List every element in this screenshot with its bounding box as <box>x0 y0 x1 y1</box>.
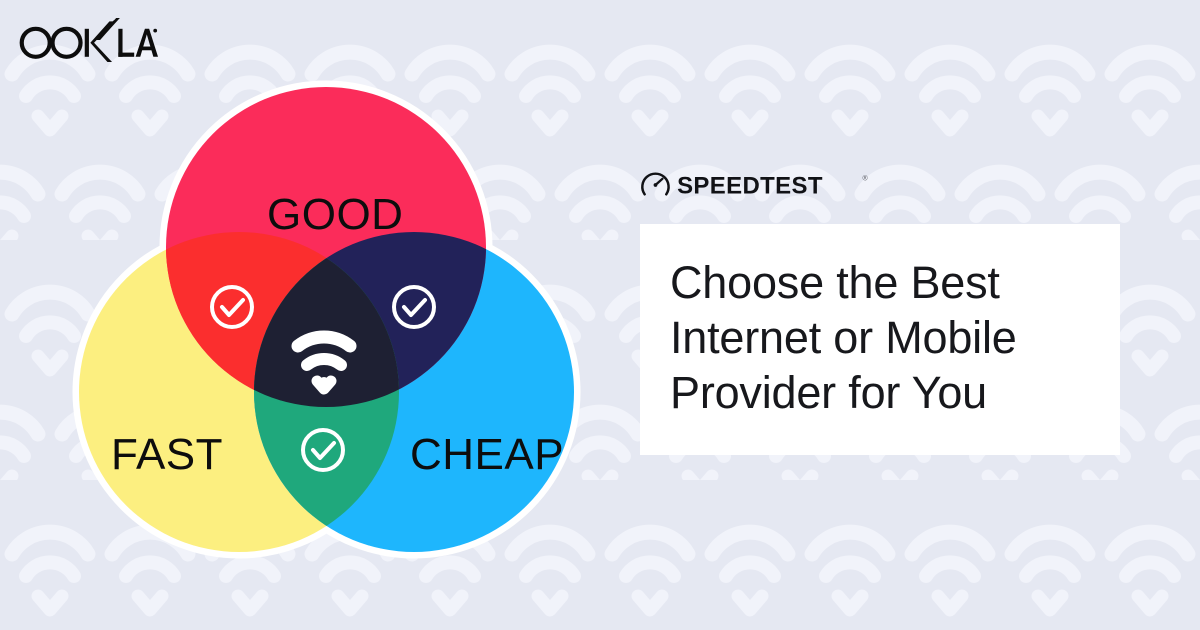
speedtest-trademark: ® <box>863 174 868 182</box>
ookla-letter-l <box>118 29 134 57</box>
speedtest-logo-svg: SPEEDTEST ® <box>640 168 872 202</box>
ookla-letter-o2 <box>53 29 81 57</box>
venn-label-good: GOOD <box>267 190 403 240</box>
headline-line-2: Internet or Mobile <box>670 311 1090 366</box>
speedtest-logo[interactable]: SPEEDTEST ® <box>640 168 1120 202</box>
venn-svg <box>54 62 599 567</box>
venn-label-cheap: CHEAP <box>410 430 564 480</box>
ookla-letter-a <box>136 29 158 57</box>
venn-diagram: GOOD FAST CHEAP <box>54 62 599 567</box>
poster-canvas: GOOD FAST CHEAP SPEEDTEST ® Choose the B… <box>0 0 1200 630</box>
ookla-logo[interactable] <box>18 18 158 62</box>
page-title: Choose the Best Internet or Mobile Provi… <box>670 256 1090 421</box>
ookla-letter-o1 <box>22 29 50 57</box>
speedometer-icon <box>642 174 668 195</box>
right-panel: SPEEDTEST ® Choose the Best Internet or … <box>640 168 1120 455</box>
venn-label-fast: FAST <box>111 430 223 480</box>
ookla-k-rays <box>96 18 121 40</box>
headline-line-1: Choose the Best <box>670 256 1090 311</box>
ookla-registered-mark <box>153 29 157 33</box>
headline-card: Choose the Best Internet or Mobile Provi… <box>640 224 1120 455</box>
headline-line-3: Provider for You <box>670 366 1090 421</box>
speedtest-wordmark: SPEEDTEST <box>677 172 823 199</box>
